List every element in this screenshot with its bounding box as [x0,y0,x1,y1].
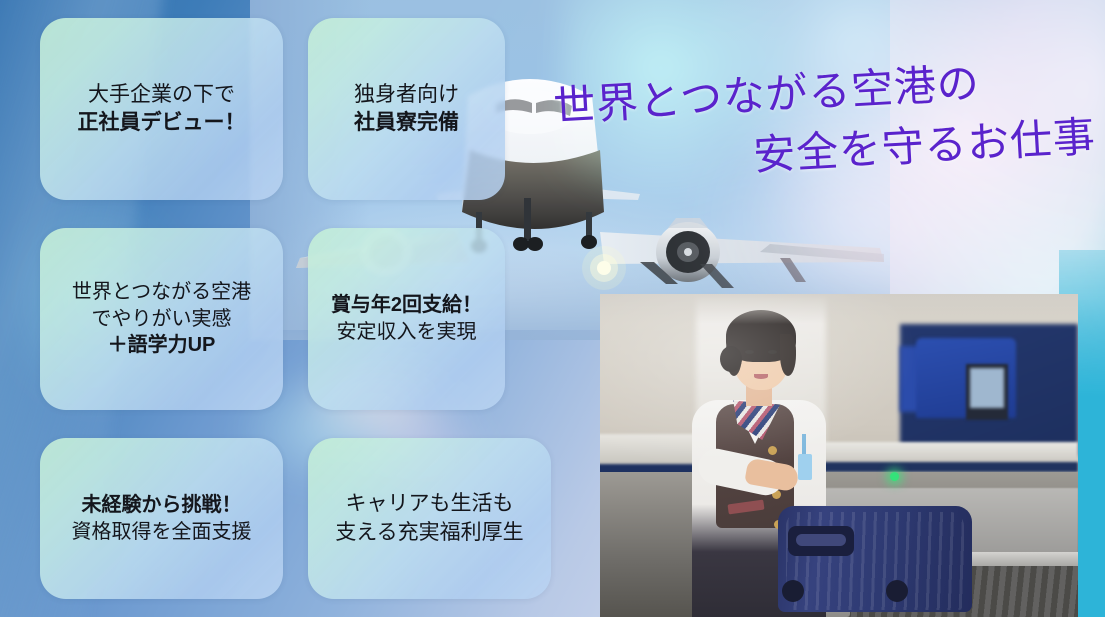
photo-far-counter-base [814,462,1078,472]
photo-monitor-screen [970,368,1004,408]
benefit-card-2[interactable]: 独身者向け 社員寮完備 [308,18,505,200]
benefit-card-2-line-1: 独身者向け [354,81,459,109]
benefit-card-5-line-2: 資格取得を全面支援 [72,519,252,546]
photo-suitcase-wheel-left [782,580,804,602]
benefit-card-3-line-3: ＋語学力UP [108,332,216,359]
photo-vest-button-1 [768,446,777,455]
staff-photo [600,294,1078,617]
photo-top-blur [600,294,1078,324]
photo-staff-id-badge [798,454,812,480]
benefit-card-1[interactable]: 大手企業の下で 正社員デビュー！ [40,18,283,200]
photo-staff-badge-strap [802,434,806,456]
benefit-card-3-line-1: 世界とつながる空港 [72,279,251,306]
recruitment-poster: 世界とつながる空港の 安全を守るお仕事 [0,0,1105,617]
photo-staff-hair-right [780,334,796,376]
photo-suitcase-handle-grip [796,534,846,546]
photo-staff-mouth [754,374,768,379]
benefit-card-6-line-2: 支える充実福利厚生 [335,519,523,547]
benefit-card-1-line-2: 正社員デビュー！ [78,109,246,137]
benefit-card-4-line-1: 賞与年2回支給！ [331,292,482,319]
benefit-card-6-line-1: キャリアも生活も [346,490,514,518]
benefit-card-2-line-2: 社員寮完備 [354,109,459,137]
benefit-card-6[interactable]: キャリアも生活も 支える充実福利厚生 [308,438,551,599]
photo-suitcase-wheel-right [886,580,908,602]
benefit-card-4-line-2: 安定収入を実現 [337,319,477,346]
photo-far-counter [814,442,1078,464]
benefit-card-4[interactable]: 賞与年2回支給！ 安定収入を実現 [308,228,505,410]
photo-staff-hair-bun [720,346,742,372]
benefit-card-3[interactable]: 世界とつながる空港 でやりがい実感 ＋語学力UP [40,228,283,410]
benefit-card-5-line-1: 未経験から挑戦！ [82,492,242,519]
benefit-card-5[interactable]: 未経験から挑戦！ 資格取得を全面支援 [40,438,283,599]
photo-green-indicator-light [890,472,899,481]
benefit-card-3-line-2: でやりがい実感 [92,306,232,333]
photo-staff-eye-right [768,350,777,354]
benefit-card-1-line-1: 大手企業の下で [88,81,235,109]
photo-staff-eye-left [745,350,754,354]
